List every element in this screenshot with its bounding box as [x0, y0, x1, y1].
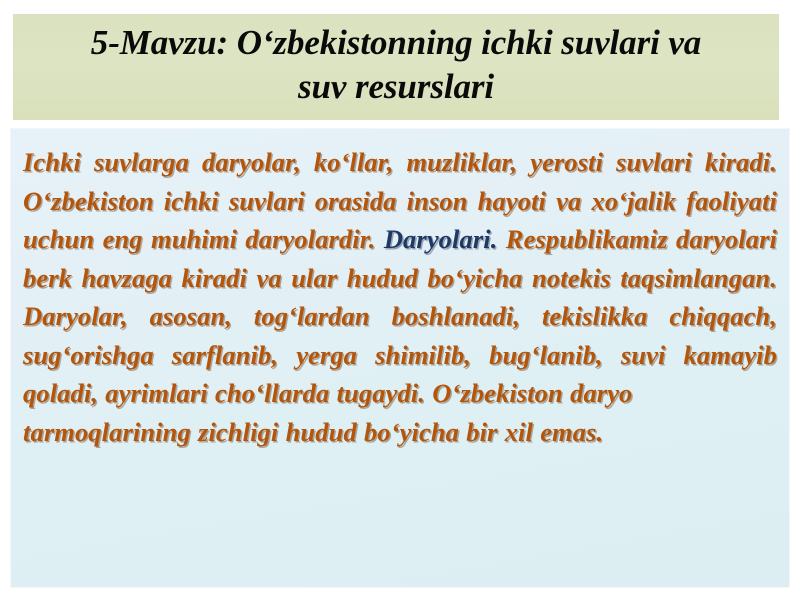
slide-title-line-1: 5-Mavzu: O‘zbekistonning ichki suvlari v… [91, 23, 701, 62]
presentation-slide: 5-Mavzu: O‘zbekistonning ichki suvlari v… [0, 0, 800, 600]
body-segment-final-line: tarmoqlarining zichligi hudud bo‘yicha b… [23, 413, 777, 452]
slide-body-paragraph: Ichki suvlarga daryolar, ko‘llar, muzlik… [23, 143, 777, 451]
body-segment-heading-daryolari: Daryolari. [384, 224, 498, 254]
slide-body-box: Ichki suvlarga daryolar, ko‘llar, muzlik… [10, 128, 790, 588]
slide-title: 5-Mavzu: O‘zbekistonning ichki suvlari v… [39, 21, 753, 109]
slide-title-line-2: suv resurslari [298, 67, 494, 106]
slide-title-box: 5-Mavzu: O‘zbekistonning ichki suvlari v… [13, 14, 779, 120]
